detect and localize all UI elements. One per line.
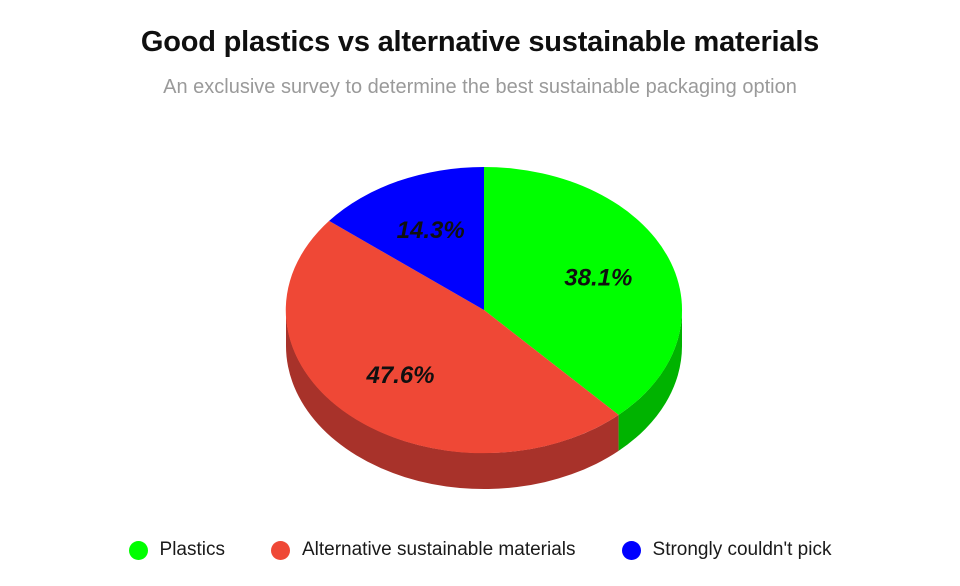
chart-legend: Plastics Alternative sustainable materia… [0, 528, 960, 572]
pie-svg: 38.1% 47.6% 14.3% [0, 130, 960, 510]
legend-label-nopick: Strongly couldn't pick [653, 539, 832, 561]
pie-label-alternative: 47.6% [365, 362, 434, 389]
legend-label-plastics: Plastics [160, 539, 225, 561]
legend-item-nopick[interactable]: Strongly couldn't pick [622, 539, 832, 561]
pie-plot-area: 38.1% 47.6% 14.3% [0, 130, 960, 510]
legend-item-plastics[interactable]: Plastics [129, 539, 225, 561]
pie-chart-figure: Good plastics vs alternative sustainable… [0, 0, 960, 586]
circle-swatch-icon [622, 541, 641, 560]
circle-swatch-icon [129, 541, 148, 560]
pie-label-plastics: 38.1% [564, 265, 632, 292]
legend-item-alternative[interactable]: Alternative sustainable materials [271, 539, 576, 561]
chart-subtitle: An exclusive survey to determine the bes… [0, 76, 960, 99]
circle-swatch-icon [271, 541, 290, 560]
pie-label-nopick: 14.3% [397, 217, 465, 244]
legend-label-alternative: Alternative sustainable materials [302, 539, 576, 561]
pie-top-face [286, 167, 682, 453]
chart-title: Good plastics vs alternative sustainable… [0, 26, 960, 59]
